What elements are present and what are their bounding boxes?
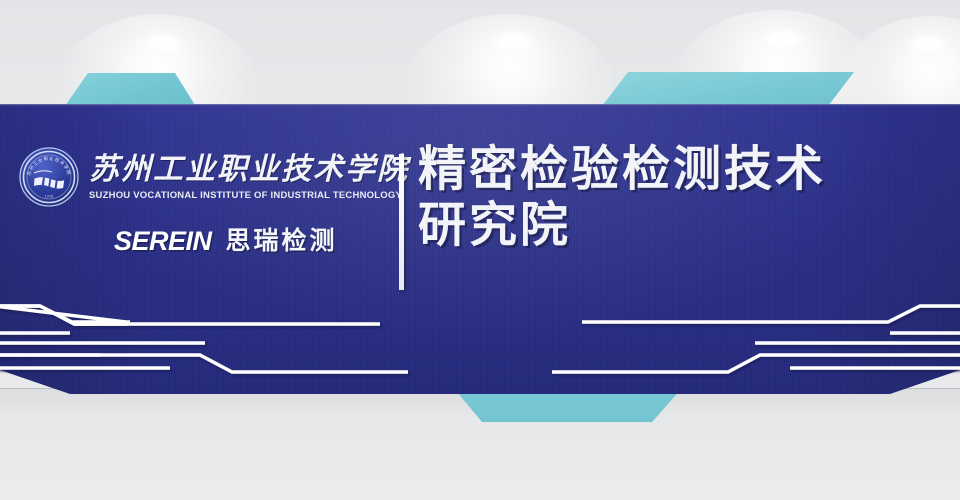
backdrop-photo: 苏州工业职业技术学院 1956 xyxy=(0,0,960,500)
school-emblem: 苏州工业职业技术学院 1956 xyxy=(18,146,80,208)
serein-name-cn: 思瑞检测 xyxy=(226,229,338,254)
school-name-block: 苏州工业职业技术学院 SUZHOU VOCATIONAL INSTITUTE O… xyxy=(89,155,409,200)
partner-brand-row: SEREIN 思瑞检测 xyxy=(114,228,384,255)
school-emblem-icon: 苏州工业职业技术学院 1956 xyxy=(18,146,80,208)
panel-content: 苏州工业职业技术学院 1956 xyxy=(0,104,960,394)
page-title-line-1: 精密检验检测技术 xyxy=(418,142,948,198)
page-title: 精密检验检测技术 研究院 xyxy=(418,142,948,253)
page-title-line-2: 研究院 xyxy=(418,198,948,254)
serein-wordmark: SEREIN xyxy=(114,228,212,255)
school-brand-row: 苏州工业职业技术学院 1956 xyxy=(18,146,384,208)
vertical-divider xyxy=(399,154,404,290)
school-name-cn: 苏州工业职业技术学院 xyxy=(89,155,409,185)
svg-text:1956: 1956 xyxy=(44,195,53,199)
school-name-en: SUZHOU VOCATIONAL INSTITUTE OF INDUSTRIA… xyxy=(89,190,415,200)
brand-lockup: 苏州工业职业技术学院 1956 xyxy=(18,146,384,255)
